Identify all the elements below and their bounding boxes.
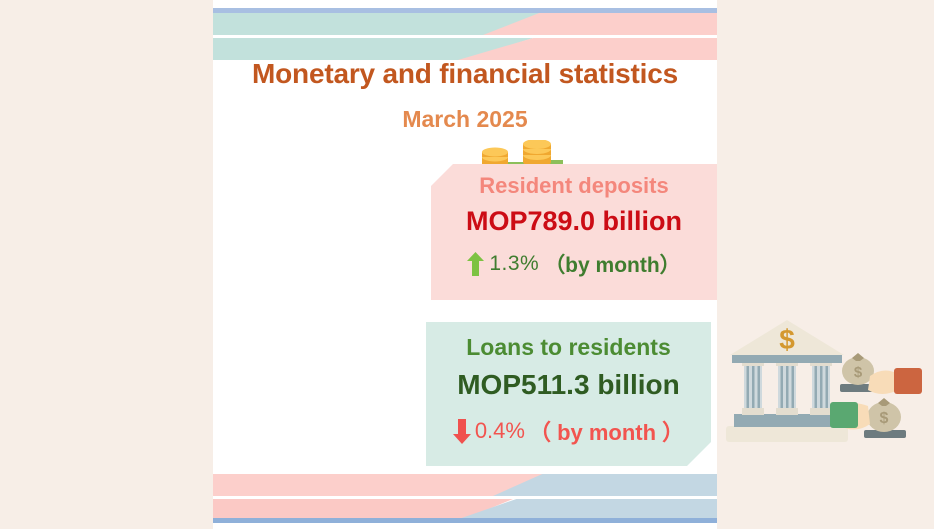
bottom-accent-line [213, 518, 717, 523]
loans-change-period: （ by month ） [529, 415, 684, 447]
page-title: Monetary and financial statistics [213, 58, 717, 90]
top-ribbon-1 [213, 13, 717, 35]
loans-value: MOP511.3 billion [426, 369, 711, 401]
bank-building-illustration: $ $ $ [718, 318, 928, 468]
arrow-down-icon [453, 419, 471, 444]
bottom-ribbon-1 [213, 474, 717, 496]
panel-loans-to-residents: Loans to residents MOP511.3 billion 0.4%… [426, 322, 711, 466]
loans-change: 0.4% （ by month ） [426, 415, 711, 447]
deposits-change-period: （by month） [544, 249, 681, 279]
dollar-sign-icon: $ [779, 324, 795, 355]
deposits-change-pct: 1.3% [489, 252, 539, 276]
deposits-title: Resident deposits [431, 173, 717, 199]
page-subtitle: March 2025 [213, 106, 717, 133]
loans-title: Loans to residents [426, 334, 711, 361]
hand-with-money-bag-upper: $ [840, 353, 922, 394]
infographic-card: Monetary and financial statistics March … [213, 0, 717, 529]
deposits-change: 1.3% （by month） [431, 249, 717, 279]
loans-change-pct: 0.4% [475, 418, 525, 444]
arrow-up-icon [467, 252, 484, 276]
infographic-root: Monetary and financial statistics March … [0, 0, 934, 529]
deposits-value: MOP789.0 billion [431, 206, 717, 237]
top-ribbon-2 [213, 38, 717, 60]
ribbon-pink-segment [213, 474, 543, 496]
svg-text:$: $ [880, 410, 889, 427]
panel-resident-deposits: Resident deposits MOP789.0 billion 1.3% … [431, 164, 717, 300]
svg-text:$: $ [854, 364, 863, 381]
